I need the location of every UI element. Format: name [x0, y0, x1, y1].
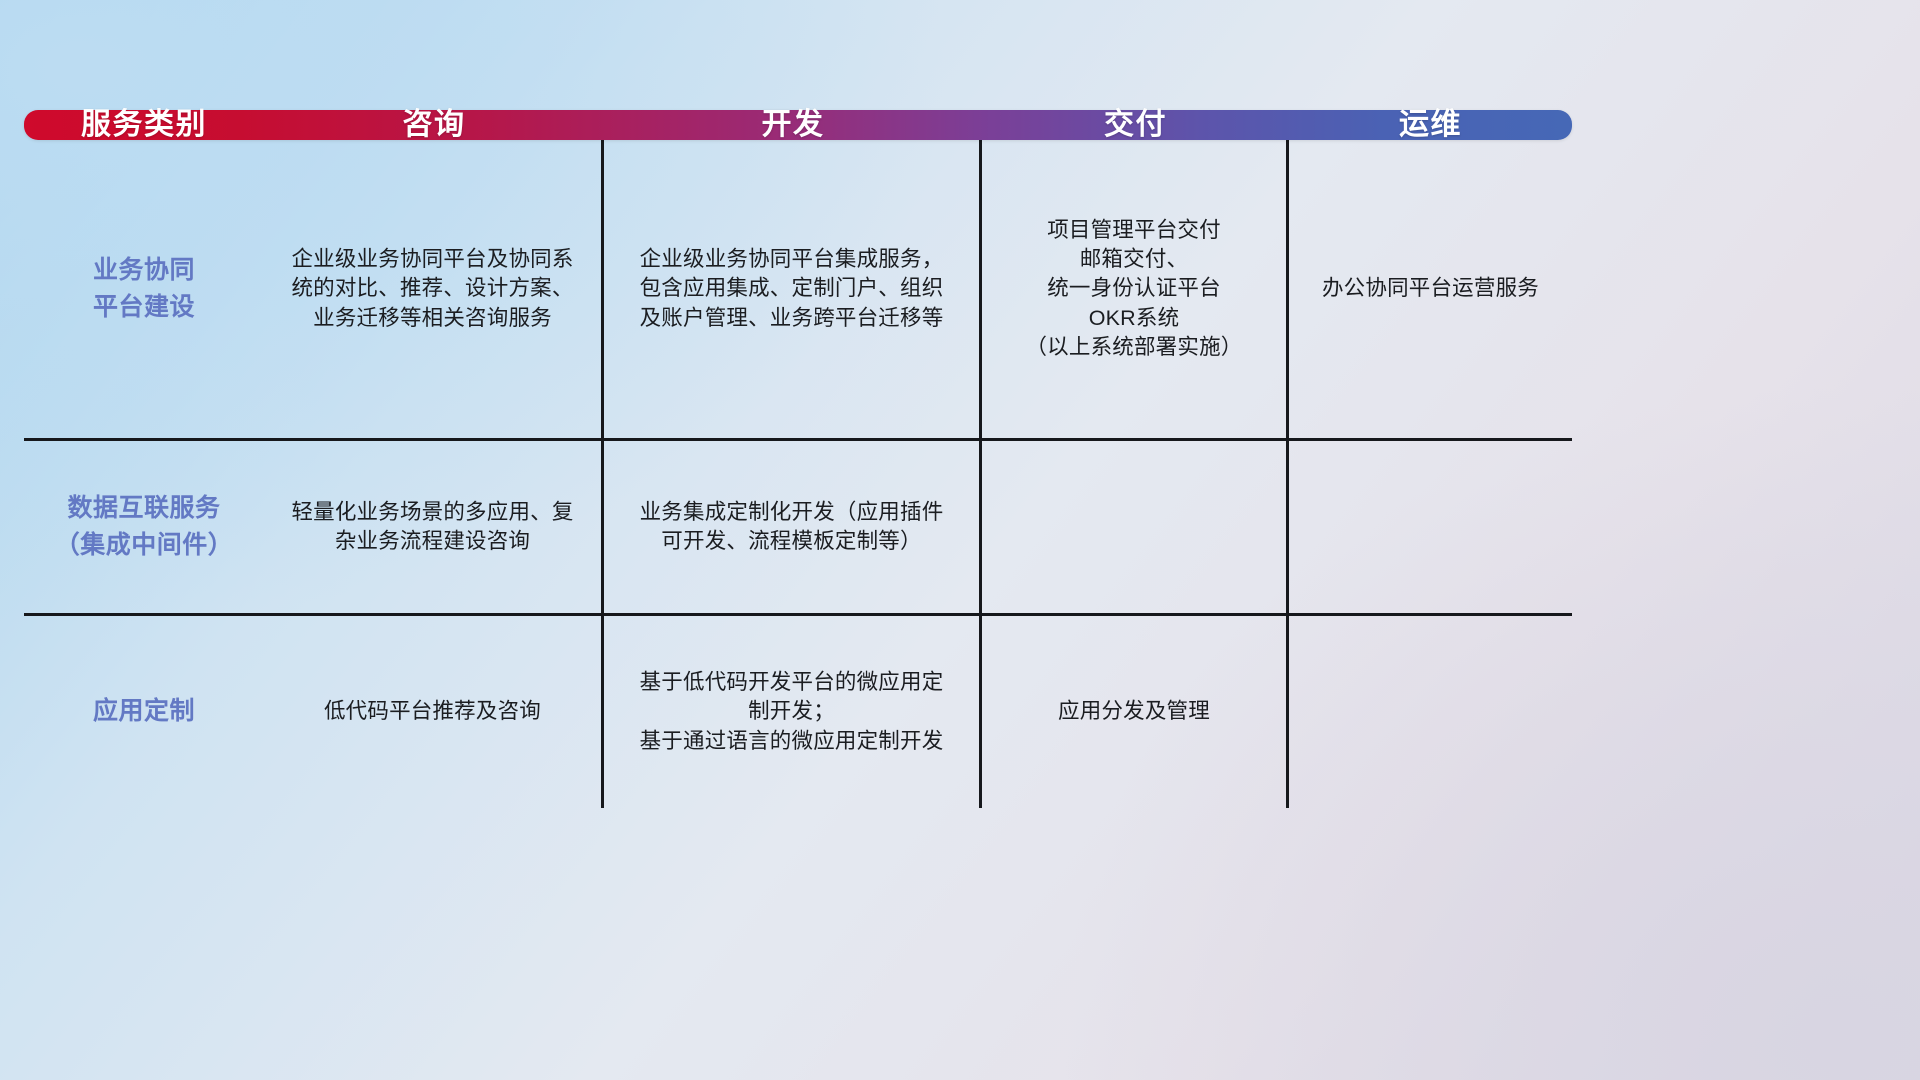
- slide-canvas: 服务类别 咨询 开发 交付 运维 业务协同 平台建设 企业级业务协同平台及协同系…: [0, 0, 1920, 1080]
- cell-development: 企业级业务协同平台集成服务， 包含应用集成、定制门户、组织 及账户管理、业务跨平…: [604, 140, 982, 438]
- row-category-label: 应用定制: [24, 616, 264, 808]
- column-header-consulting: 咨询: [264, 110, 604, 140]
- cell-consulting: 企业级业务协同平台及协同系 统的对比、推荐、设计方案、 业务迁移等相关咨询服务: [264, 140, 604, 438]
- cell-delivery: 应用分发及管理: [982, 616, 1289, 808]
- cell-delivery: 项目管理平台交付 邮箱交付、 统一身份认证平台 OKR系统 （以上系统部署实施）: [982, 140, 1289, 438]
- cell-delivery: [982, 441, 1289, 613]
- cell-operations: 办公协同平台运营服务: [1289, 140, 1572, 438]
- column-header-operations: 运维: [1289, 110, 1572, 140]
- row-category-label: 数据互联服务 （集成中间件）: [24, 441, 264, 613]
- cell-consulting: 轻量化业务场景的多应用、复 杂业务流程建设咨询: [264, 441, 604, 613]
- cell-consulting: 低代码平台推荐及咨询: [264, 616, 604, 808]
- table-row: 数据互联服务 （集成中间件） 轻量化业务场景的多应用、复 杂业务流程建设咨询 业…: [24, 438, 1572, 613]
- services-matrix-table: 服务类别 咨询 开发 交付 运维 业务协同 平台建设 企业级业务协同平台及协同系…: [24, 110, 1572, 782]
- row-category-label: 业务协同 平台建设: [24, 140, 264, 438]
- cell-operations: [1289, 441, 1572, 613]
- table-row: 业务协同 平台建设 企业级业务协同平台及协同系 统的对比、推荐、设计方案、 业务…: [24, 140, 1572, 438]
- column-header-development: 开发: [604, 110, 982, 140]
- table-row: 应用定制 低代码平台推荐及咨询 基于低代码开发平台的微应用定 制开发； 基于通过…: [24, 613, 1572, 808]
- cell-operations: [1289, 616, 1572, 808]
- table-body: 业务协同 平台建设 企业级业务协同平台及协同系 统的对比、推荐、设计方案、 业务…: [24, 140, 1572, 808]
- cell-development: 基于低代码开发平台的微应用定 制开发； 基于通过语言的微应用定制开发: [604, 616, 982, 808]
- column-header-category: 服务类别: [24, 110, 264, 140]
- cell-development: 业务集成定制化开发（应用插件 可开发、流程模板定制等）: [604, 441, 982, 613]
- column-header-delivery: 交付: [982, 110, 1289, 140]
- table-header-row: 服务类别 咨询 开发 交付 运维: [24, 110, 1572, 140]
